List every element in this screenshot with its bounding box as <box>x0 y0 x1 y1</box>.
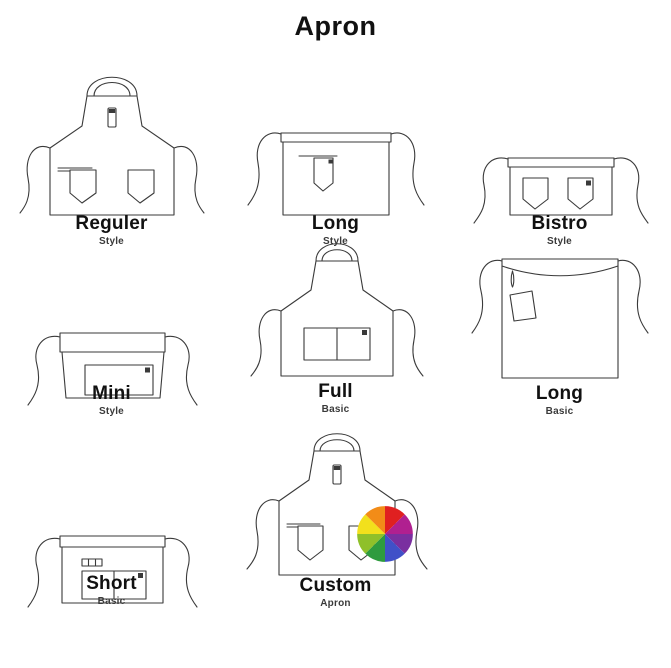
apron-name: Long <box>224 213 447 235</box>
page-title: Apron <box>0 0 671 48</box>
apron-category: Basic <box>224 403 447 417</box>
apron-name: Custom <box>224 575 447 597</box>
apron-name: Long <box>448 383 671 405</box>
color-wheel-icon[interactable] <box>356 505 414 568</box>
color-wheel-segments <box>357 506 413 562</box>
waist-apron-wide-pocket-icon <box>0 233 223 383</box>
apron-card-labels: Short Basic <box>0 573 223 609</box>
apron-card-short[interactable]: Short Basic <box>0 423 223 623</box>
apron-name: Full <box>224 381 447 403</box>
apron-card-labels: Mini Style <box>0 383 223 419</box>
waist-apron-pen-slots-icon <box>0 423 223 573</box>
waist-apron-square-one-pocket-icon <box>224 63 447 213</box>
apron-card-labels: Custom Apron <box>224 575 447 611</box>
apron-name: Short <box>0 573 223 595</box>
apron-style-grid: Reguler Style Long Style <box>0 48 671 668</box>
bib-apron-divided-pocket-icon <box>224 233 447 383</box>
waist-apron-curved-waist-icon <box>448 233 671 383</box>
apron-name: Bistro <box>448 213 671 235</box>
apron-name: Reguler <box>0 213 223 235</box>
apron-name: Mini <box>0 383 223 405</box>
apron-card-long-basic[interactable]: Long Basic <box>448 233 671 433</box>
apron-card-labels: Long Basic <box>448 383 671 419</box>
apron-card-custom[interactable]: Custom Apron <box>224 423 447 623</box>
apron-category: Style <box>0 405 223 419</box>
apron-card-mini[interactable]: Mini Style <box>0 233 223 433</box>
apron-category: Apron <box>224 597 447 611</box>
apron-card-full[interactable]: Full Basic <box>224 233 447 433</box>
apron-category: Basic <box>0 595 223 609</box>
bib-apron-two-pockets-icon <box>0 63 223 213</box>
apron-card-labels: Full Basic <box>224 381 447 417</box>
apron-category: Basic <box>448 405 671 419</box>
waist-apron-two-pockets-icon <box>448 63 671 213</box>
